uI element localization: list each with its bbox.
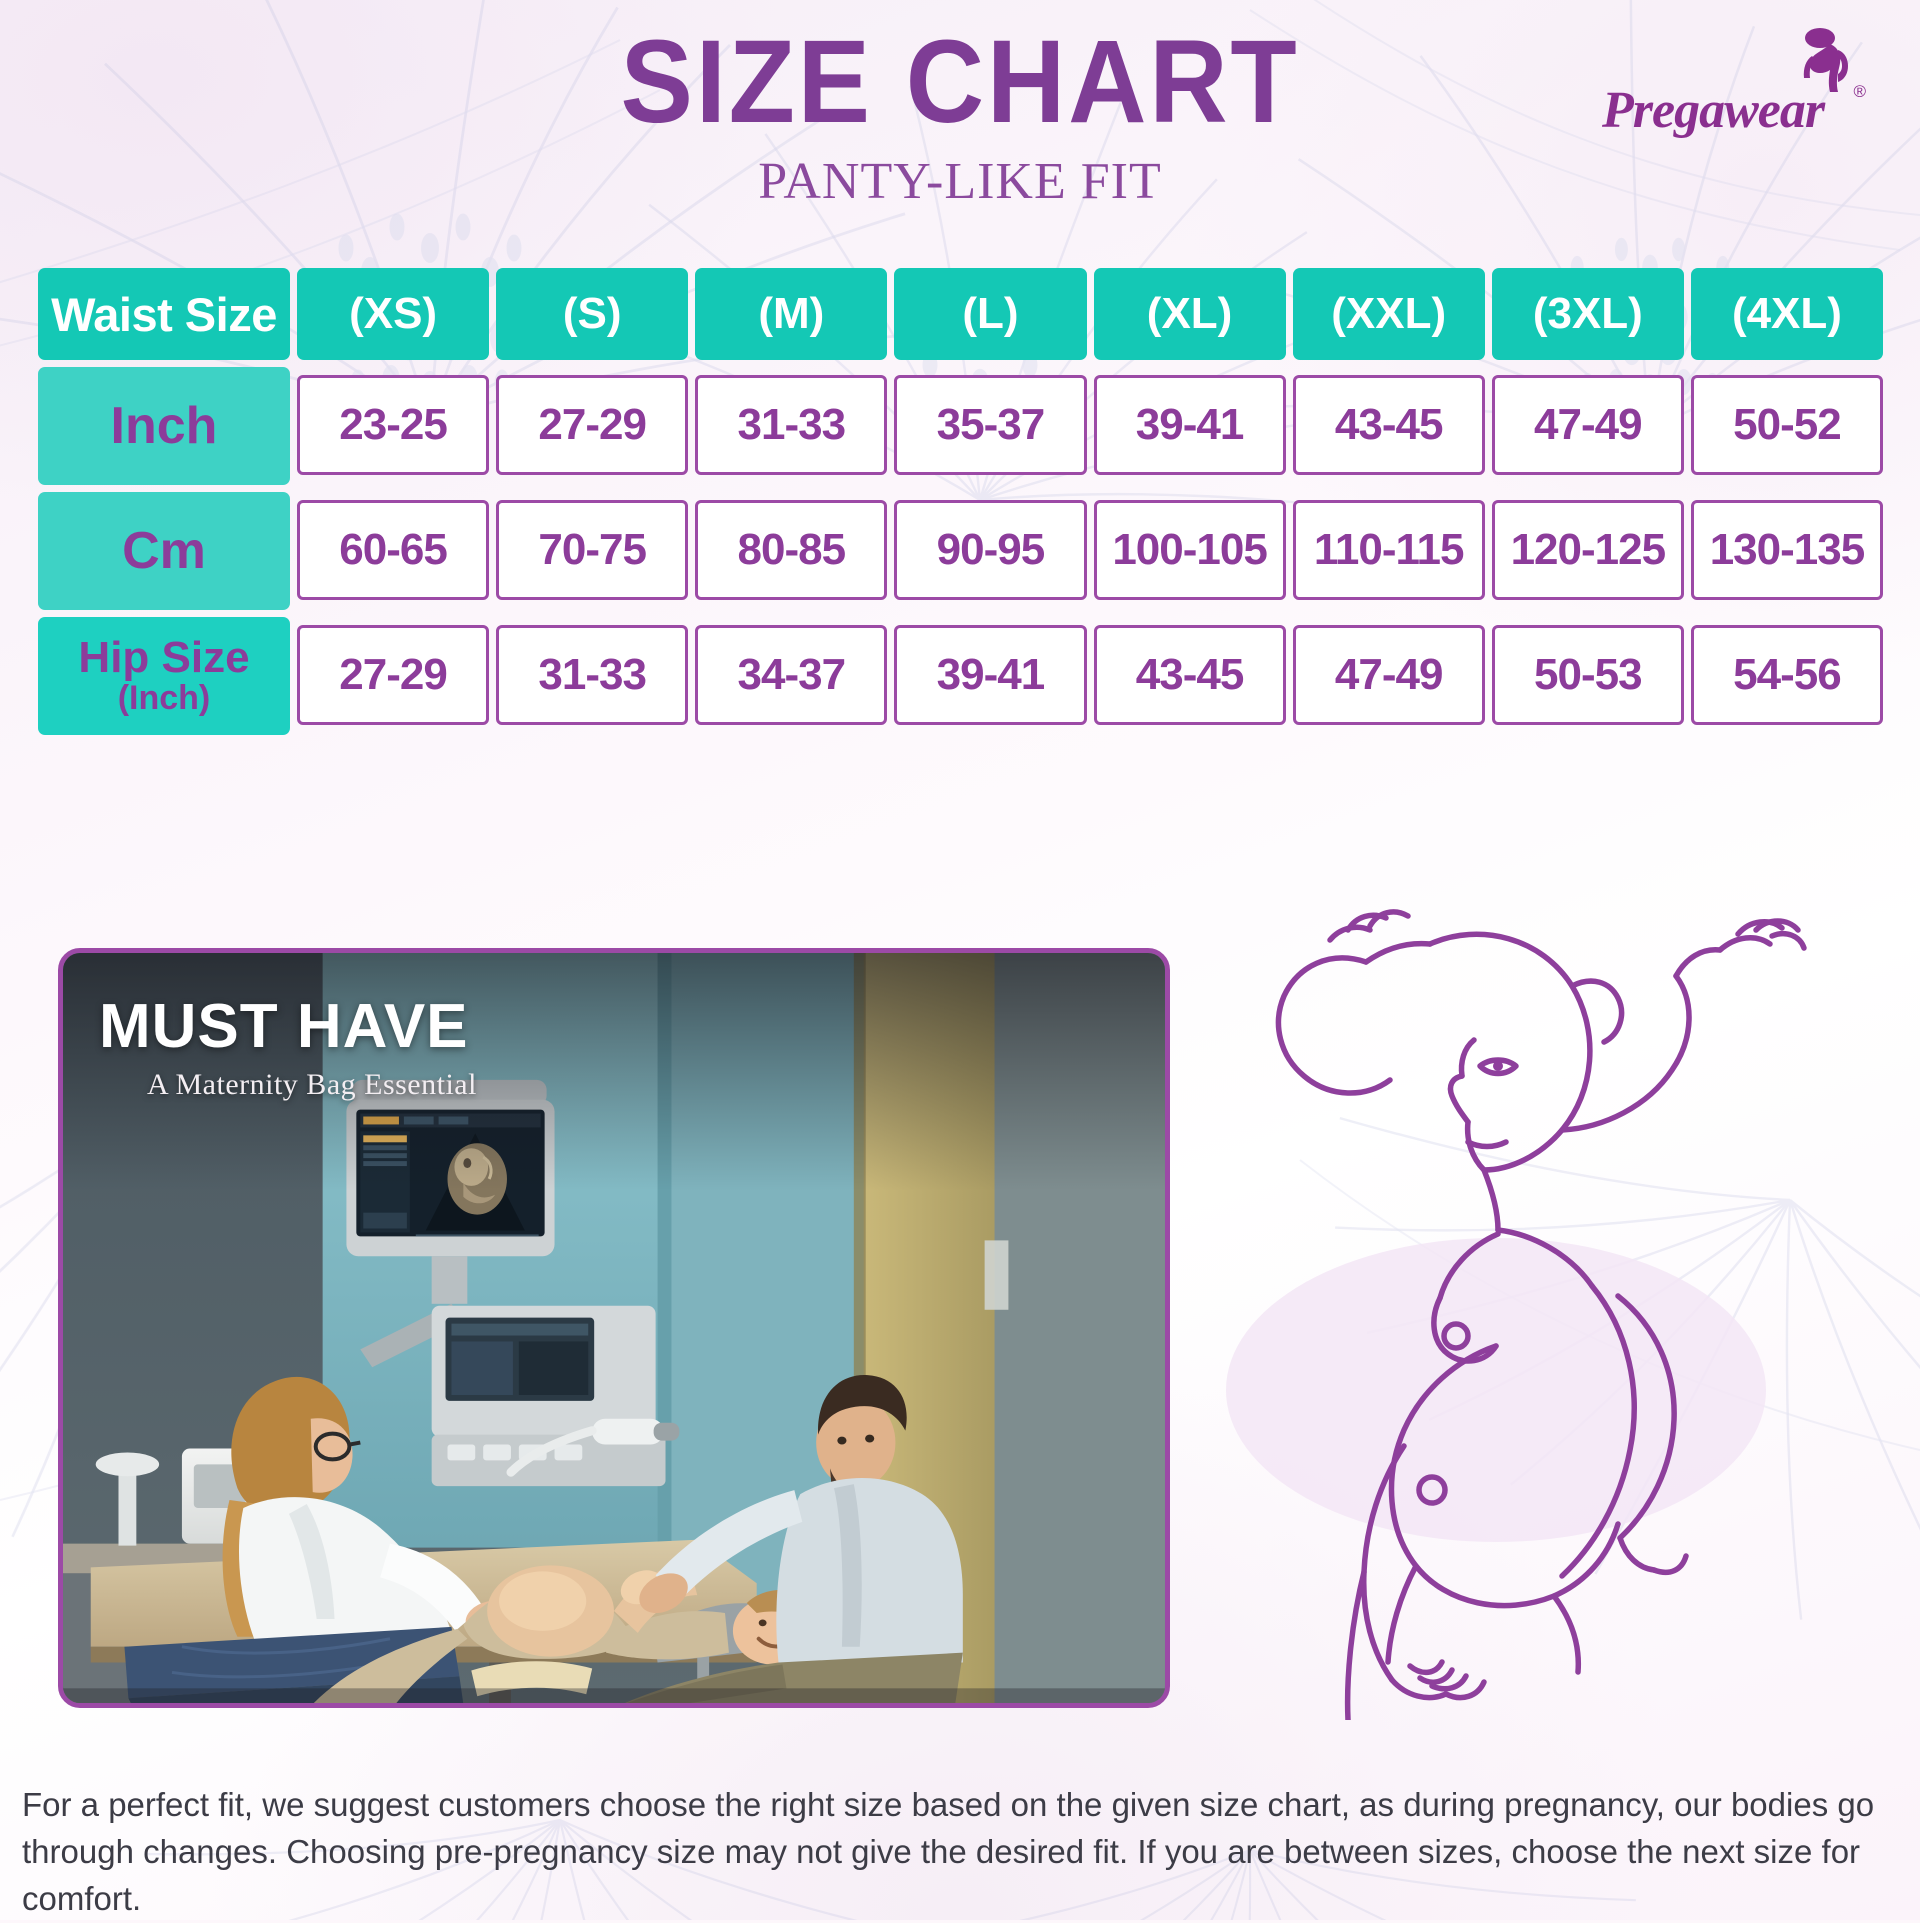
cell-inch-xl: 39-41 xyxy=(1094,375,1286,475)
page-header: SIZE CHART PANTY-LIKE FIT Pregawear ® xyxy=(0,0,1920,250)
header-waist-size-label: Waist Size xyxy=(38,268,290,360)
cell-hip-s: 31-33 xyxy=(496,625,688,725)
header-size-xs: (XS) xyxy=(297,268,489,360)
pregnant-woman-line-art xyxy=(1180,890,1880,1720)
photo-caption-sub: A Maternity Bag Essential xyxy=(147,1068,477,1102)
table-header-row: Waist Size (XS) (S) (M) (L) (XL) (XXL) (… xyxy=(38,268,1883,360)
cell-cm-s: 70-75 xyxy=(496,500,688,600)
cell-hip-3xl: 50-53 xyxy=(1492,625,1684,725)
cell-cm-xs: 60-65 xyxy=(297,500,489,600)
photo-caption: MUST HAVE A Maternity Bag Essential xyxy=(99,991,477,1102)
cell-cm-4xl: 130-135 xyxy=(1691,500,1883,600)
cell-cm-l: 90-95 xyxy=(894,500,1086,600)
logo-wordmark: Pregawear xyxy=(1602,81,1872,140)
cell-cm-xxl: 110-115 xyxy=(1293,500,1485,600)
header-size-xxl: (XXL) xyxy=(1293,268,1485,360)
cell-inch-xxl: 43-45 xyxy=(1293,375,1485,475)
cell-inch-m: 31-33 xyxy=(695,375,887,475)
row-label-hip-size: Hip Size (Inch) xyxy=(38,617,290,735)
table-row-cm: Cm 60-65 70-75 80-85 90-95 100-105 110-1… xyxy=(38,492,1883,610)
brand-logo: Pregawear ® xyxy=(1602,26,1872,146)
row-label-hip-sub: (Inch) xyxy=(118,681,211,716)
cell-inch-l: 35-37 xyxy=(894,375,1086,475)
header-size-l: (L) xyxy=(894,268,1086,360)
cell-cm-m: 80-85 xyxy=(695,500,887,600)
cell-cm-xl: 100-105 xyxy=(1094,500,1286,600)
footer-note: For a perfect fit, we suggest customers … xyxy=(22,1782,1902,1923)
lineart-background-ellipse xyxy=(1226,1238,1766,1542)
row-label-hip-main: Hip Size xyxy=(78,636,249,681)
cell-inch-s: 27-29 xyxy=(496,375,688,475)
cell-cm-3xl: 120-125 xyxy=(1492,500,1684,600)
cell-inch-3xl: 47-49 xyxy=(1492,375,1684,475)
cell-hip-xs: 27-29 xyxy=(297,625,489,725)
header-size-m: (M) xyxy=(695,268,887,360)
table-row-inch: Inch 23-25 27-29 31-33 35-37 39-41 43-45… xyxy=(38,367,1883,485)
logo-registered-mark: ® xyxy=(1853,82,1866,102)
header-size-s: (S) xyxy=(496,268,688,360)
page-subtitle: PANTY-LIKE FIT xyxy=(0,152,1920,211)
promo-photo-panel: MUST HAVE A Maternity Bag Essential xyxy=(58,948,1170,1708)
cell-hip-l: 39-41 xyxy=(894,625,1086,725)
size-chart-table: Waist Size (XS) (S) (M) (L) (XL) (XXL) (… xyxy=(38,268,1883,735)
row-label-inch: Inch xyxy=(38,367,290,485)
photo-caption-main: MUST HAVE xyxy=(99,991,477,1062)
cell-hip-4xl: 54-56 xyxy=(1691,625,1883,725)
table-row-hip-size: Hip Size (Inch) 27-29 31-33 34-37 39-41 … xyxy=(38,617,1883,735)
row-label-cm: Cm xyxy=(38,492,290,610)
cell-inch-4xl: 50-52 xyxy=(1691,375,1883,475)
header-size-3xl: (3XL) xyxy=(1492,268,1684,360)
header-size-xl: (XL) xyxy=(1094,268,1286,360)
page-title: SIZE CHART xyxy=(77,22,1843,142)
header-size-4xl: (4XL) xyxy=(1691,268,1883,360)
cell-hip-m: 34-37 xyxy=(695,625,887,725)
cell-hip-xxl: 47-49 xyxy=(1293,625,1485,725)
cell-hip-xl: 43-45 xyxy=(1094,625,1286,725)
cell-inch-xs: 23-25 xyxy=(297,375,489,475)
